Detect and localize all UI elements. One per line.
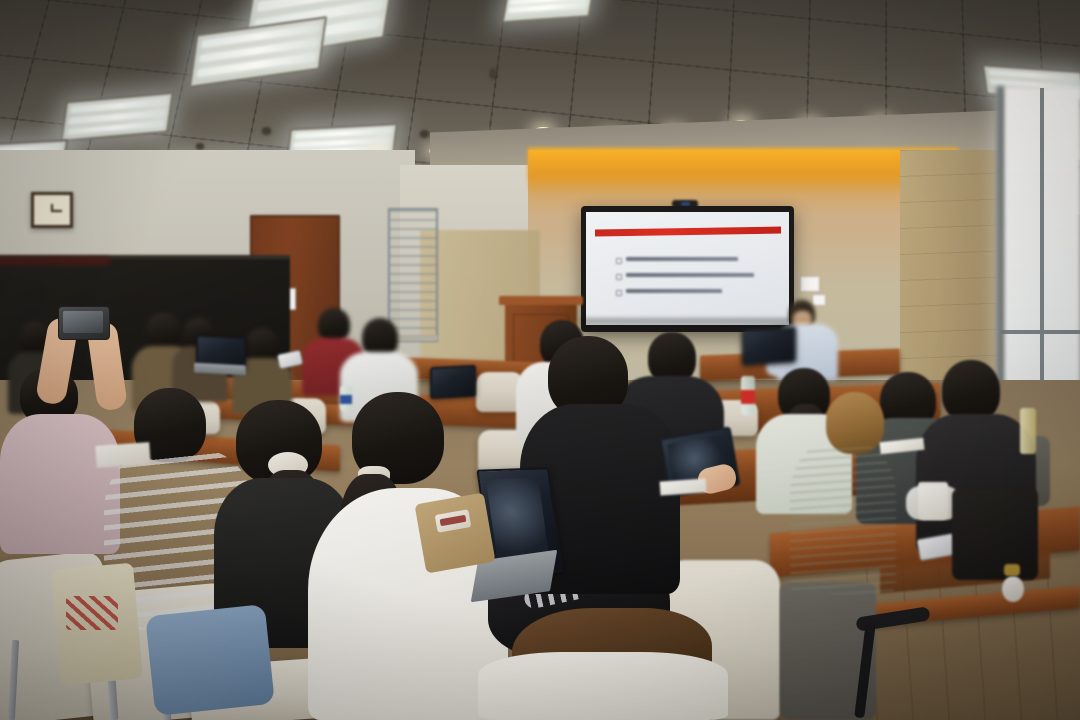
person-torso-light-front <box>478 652 728 720</box>
ceiling-sensor <box>262 127 271 134</box>
presenter-laptop[interactable] <box>742 326 796 366</box>
juice-bottle <box>1020 408 1036 454</box>
person-head <box>246 328 278 362</box>
laptop-back-row-2[interactable] <box>430 365 476 399</box>
ceiling-sensor <box>196 143 204 149</box>
laptop-wallpaper <box>486 478 550 563</box>
window-mullion <box>1000 330 1080 334</box>
slide-accent-bar <box>595 227 781 237</box>
wall-clock <box>31 192 73 228</box>
bag-keychain-plush <box>1002 576 1024 602</box>
clock-minute-hand <box>52 210 62 212</box>
slide-bullet-marker <box>616 274 622 280</box>
wall-plate-right <box>800 276 820 292</box>
presenter-glasses <box>794 314 813 320</box>
cove-light-glow <box>528 148 958 194</box>
bottle-small <box>340 386 352 412</box>
black-bag <box>952 488 1038 580</box>
denim-jacket-on-chair <box>145 604 275 716</box>
bottle-label <box>741 390 755 404</box>
photo-scene <box>0 0 1080 720</box>
camera-screen <box>63 311 103 333</box>
left-window-with-blinds <box>388 208 438 342</box>
person-head <box>942 360 1000 422</box>
slide-text-line <box>626 257 738 261</box>
bottle-label <box>340 395 352 404</box>
presentation-display[interactable] <box>581 206 794 332</box>
clock-face <box>37 197 67 223</box>
beige-bag <box>414 492 495 573</box>
person-head <box>318 308 350 342</box>
ceiling-sensor <box>420 130 429 137</box>
board-red-banner <box>0 257 110 265</box>
bag-keychain-charm <box>1004 564 1020 576</box>
slide-text-line <box>626 289 722 293</box>
wall-plate-right-2 <box>812 294 826 306</box>
display-screen <box>586 212 789 325</box>
ceiling-sensor <box>490 68 497 78</box>
slide-bullet-marker <box>616 290 622 296</box>
person-torso-striped-green <box>790 444 896 594</box>
slide-bullet-marker <box>616 258 622 264</box>
slide-text-line <box>626 273 754 277</box>
person-torso-pink <box>0 414 120 554</box>
notebook-on-desk <box>95 442 150 468</box>
lectern-top <box>499 296 583 305</box>
water-bottle <box>741 376 755 416</box>
bag-print-graphic <box>66 596 118 630</box>
